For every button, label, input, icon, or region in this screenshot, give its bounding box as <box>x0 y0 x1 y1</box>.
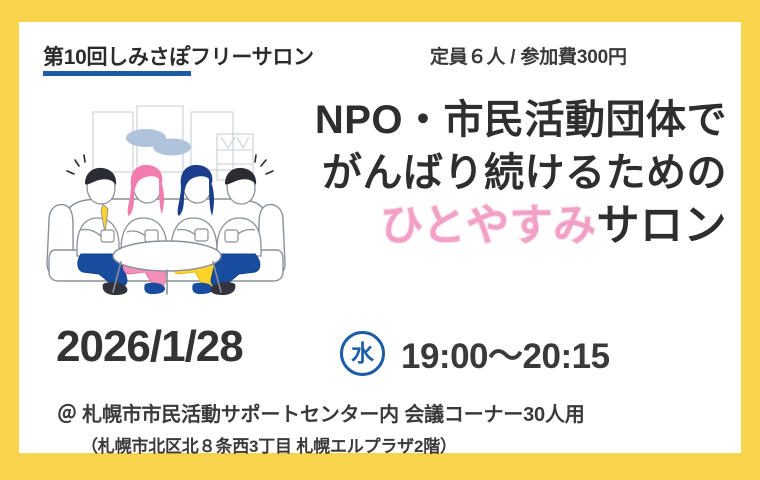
title-line-1: NPO・市民活動団体で <box>275 100 727 140</box>
capacity-fee-label: 定員６人 / 参加費300円 <box>430 42 627 69</box>
title-line-3: ひとやすみサロン <box>275 205 727 248</box>
day-of-week-badge: 水 <box>340 331 385 376</box>
flyer-canvas: 第10回しみさぽフリーサロン 定員６人 / 参加費300円 NPO・市民活動団体… <box>0 0 760 480</box>
venue-address: （札幌市北区北８条西3丁目 札幌エルプラザ2階） <box>81 432 457 457</box>
illustration-svg <box>41 104 291 302</box>
series-underline <box>43 71 191 76</box>
event-date: 2026/1/28 <box>56 322 243 372</box>
event-time-range: 19:00〜20:15 <box>401 328 610 379</box>
venue-primary: ＠ 札幌市市民活動サポートセンター内 会議コーナー30人用 <box>57 398 585 427</box>
series-label: 第10回しみさぽフリーサロン <box>43 41 314 71</box>
speech-bubble-icon <box>126 129 191 156</box>
title-suffix-word: サロン <box>597 202 728 250</box>
flyer-card: 第10回しみさぽフリーサロン 定員６人 / 参加費300円 NPO・市民活動団体… <box>19 22 741 453</box>
title-highlight-word: ひとやすみ <box>380 202 596 250</box>
page-title: NPO・市民活動団体で がんばり続けるための ひとやすみサロン <box>275 100 727 248</box>
title-line-2: がんばり続けるための <box>275 153 727 193</box>
people-talking-illustration <box>41 104 291 302</box>
